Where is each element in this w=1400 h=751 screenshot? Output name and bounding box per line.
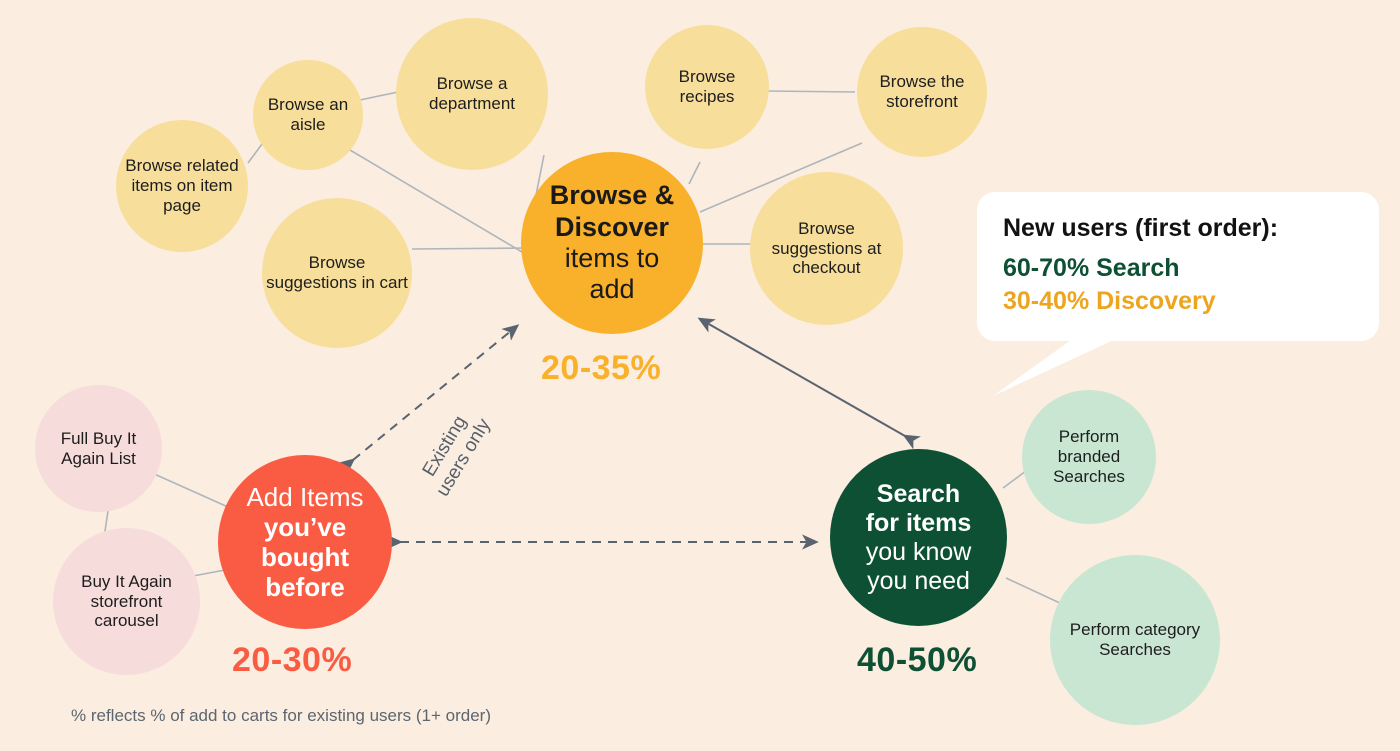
satellite-browse-an-aisle[interactable]: Browse an aisle (253, 60, 363, 170)
satellite-label: Perform branded Searches (1026, 427, 1152, 486)
satellite-full-buy-it-again-list[interactable]: Full Buy It Again List (35, 385, 162, 512)
edge-recipes-storefront (767, 91, 855, 92)
hub-browse-bold-2: Discover (550, 212, 675, 243)
hub-search-light-1: you know (866, 538, 972, 567)
hub-search-text: Search for items you know you need (860, 480, 978, 596)
arrow-search-to-browse (700, 319, 905, 436)
footnote-text: % reflects % of add to carts for existin… (71, 706, 491, 725)
satellite-buy-it-again-carousel[interactable]: Buy It Again storefront carousel (53, 528, 200, 675)
callout-new-users: New users (first order): 60-70% Search 3… (977, 192, 1379, 341)
satellite-perform-branded-searches[interactable]: Perform branded Searches (1022, 390, 1156, 524)
percent-add: 20-30% (232, 641, 352, 680)
edge-recipes-browsehub (689, 162, 700, 184)
satellite-label: Browse the storefront (861, 72, 983, 111)
hub-search-for-items[interactable]: Search for items you know you need (830, 449, 1007, 626)
hub-add-bold-1: you’ve (246, 512, 363, 542)
diagram-canvas: Browse related items on item page Browse… (0, 0, 1400, 751)
satellite-perform-category-searches[interactable]: Perform category Searches (1050, 555, 1220, 725)
hub-add-bold-3: before (246, 572, 363, 602)
satellite-browse-a-department[interactable]: Browse a department (396, 18, 548, 170)
callout-discovery-line: 30-40% Discovery (1003, 285, 1353, 318)
percent-add-value: 20-30% (232, 641, 352, 679)
edge-searchhub-category (1006, 578, 1062, 604)
satellite-browse-suggestions-at-checkout[interactable]: Browse suggestions at checkout (750, 172, 903, 325)
hub-browse-light-1: items to (550, 243, 675, 274)
hub-browse-and-discover[interactable]: Browse & Discover items to add (521, 152, 703, 334)
hub-add-light-1: Add Items (246, 482, 363, 512)
hub-search-bold-2: for items (866, 509, 972, 538)
hub-add-text: Add Items you’ve bought before (240, 482, 369, 603)
hub-add-bold-2: bought (246, 542, 363, 572)
satellite-browse-the-storefront[interactable]: Browse the storefront (857, 27, 987, 157)
satellite-label: Browse an aisle (257, 95, 359, 134)
hub-add-items-bought-before[interactable]: Add Items you’ve bought before (218, 455, 392, 629)
callout-title: New users (first order): (1003, 214, 1353, 243)
hub-browse-text: Browse & Discover items to add (544, 180, 681, 305)
percent-search: 40-50% (857, 641, 977, 680)
satellite-label: Browse suggestions at checkout (754, 219, 899, 278)
satellite-label: Browse suggestions in cart (266, 253, 408, 292)
edge-aisle-department (360, 92, 398, 100)
satellite-browse-related-items[interactable]: Browse related items on item page (116, 120, 248, 252)
hub-search-light-2: you need (866, 567, 972, 596)
edge-related-aisle (248, 144, 262, 163)
hub-browse-bold-1: Browse & (550, 180, 675, 211)
satellite-label: Full Buy It Again List (39, 429, 158, 468)
percent-search-value: 40-50% (857, 641, 977, 679)
edge-cart-browsehub (412, 248, 527, 249)
edge-carousel-addhub (193, 570, 225, 576)
satellite-browse-recipes[interactable]: Browse recipes (645, 25, 769, 149)
percent-browse: 20-35% (541, 349, 661, 388)
edge-fullbia-addhub (152, 473, 228, 507)
satellite-label: Browse related items on item page (120, 156, 244, 215)
satellite-label: Browse recipes (649, 67, 765, 106)
edge-label-existing-users-only: Existing users only (397, 377, 513, 529)
hub-search-bold-1: Search (866, 480, 972, 509)
percent-browse-value: 20-35% (541, 349, 661, 387)
satellite-label: Perform category Searches (1054, 620, 1216, 659)
callout-search-line: 60-70% Search (1003, 252, 1353, 285)
satellite-browse-suggestions-in-cart[interactable]: Browse suggestions in cart (262, 198, 412, 348)
satellite-label: Buy It Again storefront carousel (57, 572, 196, 631)
footnote: % reflects % of add to carts for existin… (71, 706, 491, 726)
satellite-label: Browse a department (400, 74, 544, 113)
hub-browse-light-2: add (550, 274, 675, 305)
